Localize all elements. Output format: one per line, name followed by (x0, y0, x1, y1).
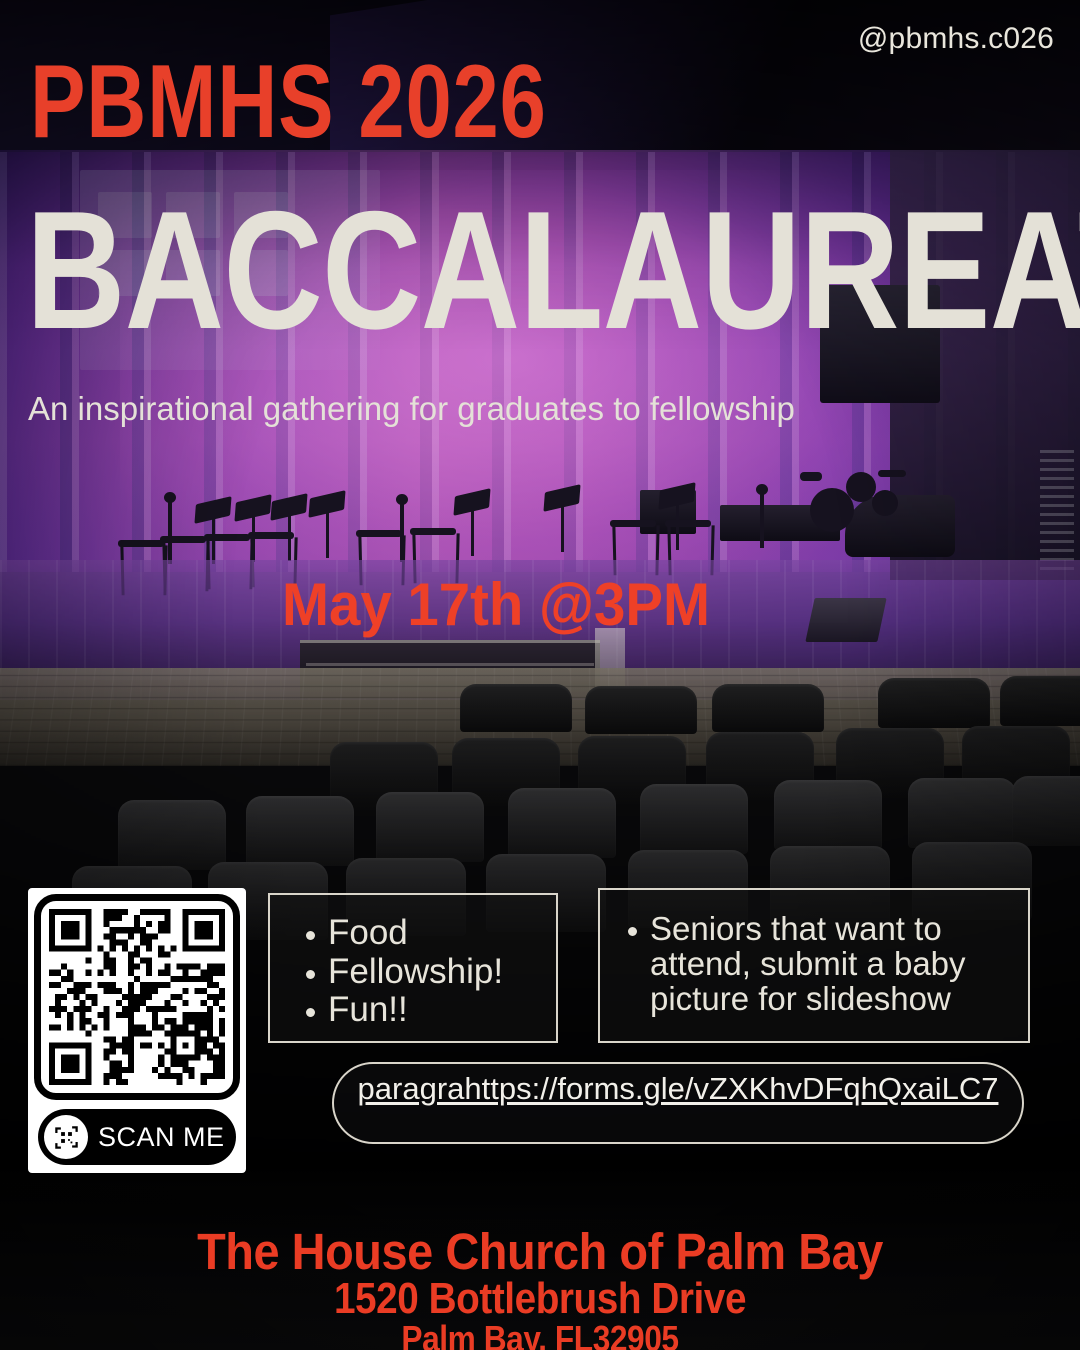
event-datetime: May 17th @3PM (282, 575, 710, 635)
page-title-main: BACCALAUREATE (26, 200, 1080, 341)
page-title-top: PBMHS 2026 (30, 58, 547, 147)
list-item-label: Fellowship! (328, 954, 503, 990)
list-item: Fun!! (306, 992, 556, 1028)
bullet-dot-icon (306, 970, 315, 979)
list-item: Fellowship! (306, 954, 556, 990)
senior-instructions-list: Seniors that want to attend, submit a ba… (600, 890, 1028, 1017)
form-link-url[interactable]: paragrahttps://forms.gle/vZXKhvDFqhQxaiL… (358, 1071, 999, 1107)
scan-me-label: SCAN ME (98, 1122, 225, 1153)
venue-name: The House Church of Palm Bay (43, 1228, 1037, 1277)
qr-code-image[interactable] (49, 909, 225, 1085)
info-box-senior-instructions: Seniors that want to attend, submit a ba… (598, 888, 1030, 1043)
activities-list: Food Fellowship! Fun!! (270, 895, 556, 1028)
form-link-pill[interactable]: paragrahttps://forms.gle/vZXKhvDFqhQxaiL… (332, 1062, 1024, 1144)
qr-code-block[interactable]: SCAN ME (28, 888, 246, 1173)
venue-street: 1520 Bottlebrush Drive (65, 1278, 1015, 1320)
bullet-dot-icon (306, 1008, 315, 1017)
list-item-label: Seniors that want to attend, submit a ba… (650, 912, 1010, 1017)
poster-root: @pbmhs.c026 PBMHS 2026 BACCALAUREATE An … (0, 0, 1080, 1350)
list-item-label: Food (328, 915, 408, 951)
qr-code-card[interactable] (34, 894, 240, 1100)
qr-scan-icon (44, 1115, 88, 1159)
venue-city-state-zip: Palm Bay, FL32905 (65, 1322, 1015, 1350)
bullet-dot-icon (628, 927, 637, 936)
list-item: Food (306, 915, 556, 951)
bullet-dot-icon (306, 931, 315, 940)
list-item: Seniors that want to attend, submit a ba… (628, 912, 1028, 1017)
info-box-activities: Food Fellowship! Fun!! (268, 893, 558, 1043)
social-handle: @pbmhs.c026 (858, 22, 1054, 56)
page-subtitle: An inspirational gathering for graduates… (28, 390, 795, 428)
footer-venue-address: The House Church of Palm Bay 1520 Bottle… (0, 1228, 1080, 1350)
list-item-label: Fun!! (328, 992, 408, 1028)
poster-content: @pbmhs.c026 PBMHS 2026 BACCALAUREATE An … (0, 0, 1080, 1350)
scan-me-pill[interactable]: SCAN ME (38, 1109, 236, 1165)
